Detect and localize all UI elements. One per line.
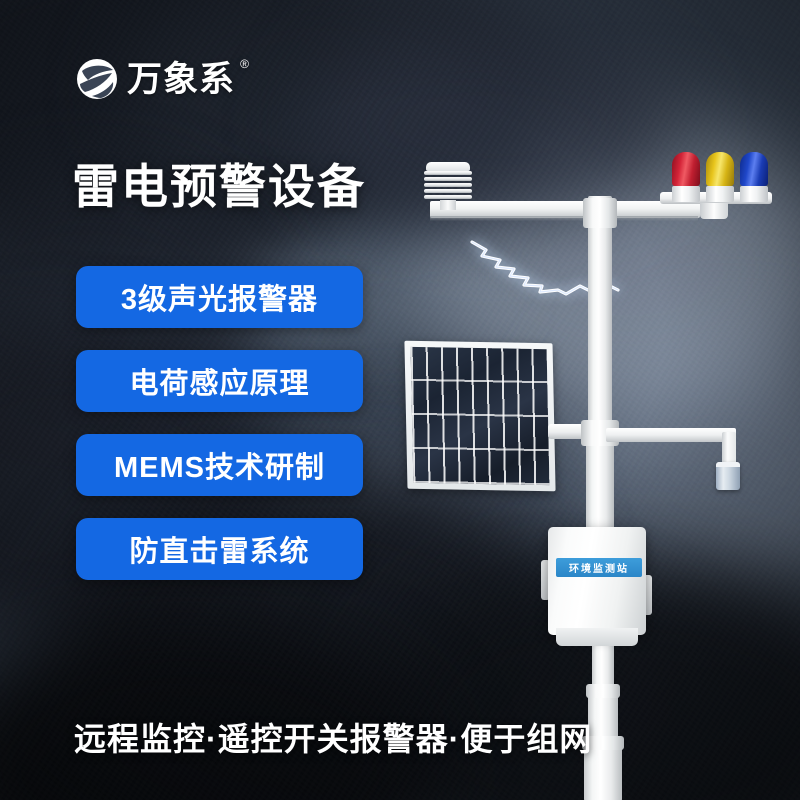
beacon-foot: [740, 186, 768, 202]
red-beacon-dome: [672, 152, 700, 186]
control-box-bottom: [556, 628, 638, 646]
feature-pill-3-label: MEMS技术研制: [114, 444, 325, 486]
control-box: [548, 527, 646, 635]
light-sensor: [716, 462, 740, 490]
shield-cap: [426, 162, 470, 171]
feature-pill-4-label: 防直击雷系统: [129, 528, 309, 570]
shield-stem: [440, 200, 456, 210]
mast-pole-upper: [588, 196, 612, 428]
brand-name-text: 万象系: [127, 60, 235, 99]
feature-pill-3: MEMS技术研制: [76, 434, 363, 496]
beacon-foot: [672, 186, 700, 202]
pole-collar: [586, 684, 620, 698]
crossarm-collar: [583, 198, 617, 228]
feature-pill-2: 电荷感应原理: [76, 350, 363, 412]
crossarm-shadow: [430, 216, 698, 221]
blue-beacon: [740, 152, 768, 202]
beacon-mount: [700, 203, 728, 219]
shield-louver: [424, 189, 472, 193]
shield-louver: [424, 195, 472, 199]
registered-mark: ®: [240, 58, 250, 70]
shield-louver: [424, 171, 472, 175]
blue-beacon-dome: [740, 152, 768, 186]
yellow-beacon-dome: [706, 152, 734, 186]
page-title: 雷电预警设备: [72, 161, 366, 213]
shield-louver: [424, 177, 472, 181]
feature-pill-1: 3级声光报警器: [76, 266, 363, 328]
red-beacon: [672, 152, 700, 202]
control-box-label-text: 环境监测站: [569, 560, 629, 575]
shield-louver: [424, 183, 472, 187]
feature-pill-1-label: 3级声光报警器: [121, 276, 318, 318]
solar-panel: [404, 341, 555, 492]
feature-list: 3级声光报警器 电荷感应原理 MEMS技术研制 防直击雷系统: [76, 266, 363, 580]
radiation-shield-sensor: [424, 162, 472, 204]
feature-pill-2-label: 电荷感应原理: [129, 360, 309, 402]
yellow-beacon: [706, 152, 734, 202]
feature-pill-4: 防直击雷系统: [76, 518, 363, 580]
product-poster: 环境监测站 万象系 ® 雷电预警设备 3级声光报警器 电荷感应原理 MEMS技术…: [0, 0, 800, 800]
lower-arm: [606, 428, 736, 442]
brand-logo: 万象系 ®: [76, 58, 235, 100]
swirl-circle-logo-icon: [76, 58, 118, 100]
brand-name: 万象系 ®: [127, 62, 235, 97]
beacon-foot: [706, 186, 734, 202]
solar-cells: [411, 347, 550, 485]
footer-tagline: 远程监控·遥控开关报警器·便于组网: [74, 714, 592, 760]
control-box-label: 环境监测站: [556, 558, 642, 577]
